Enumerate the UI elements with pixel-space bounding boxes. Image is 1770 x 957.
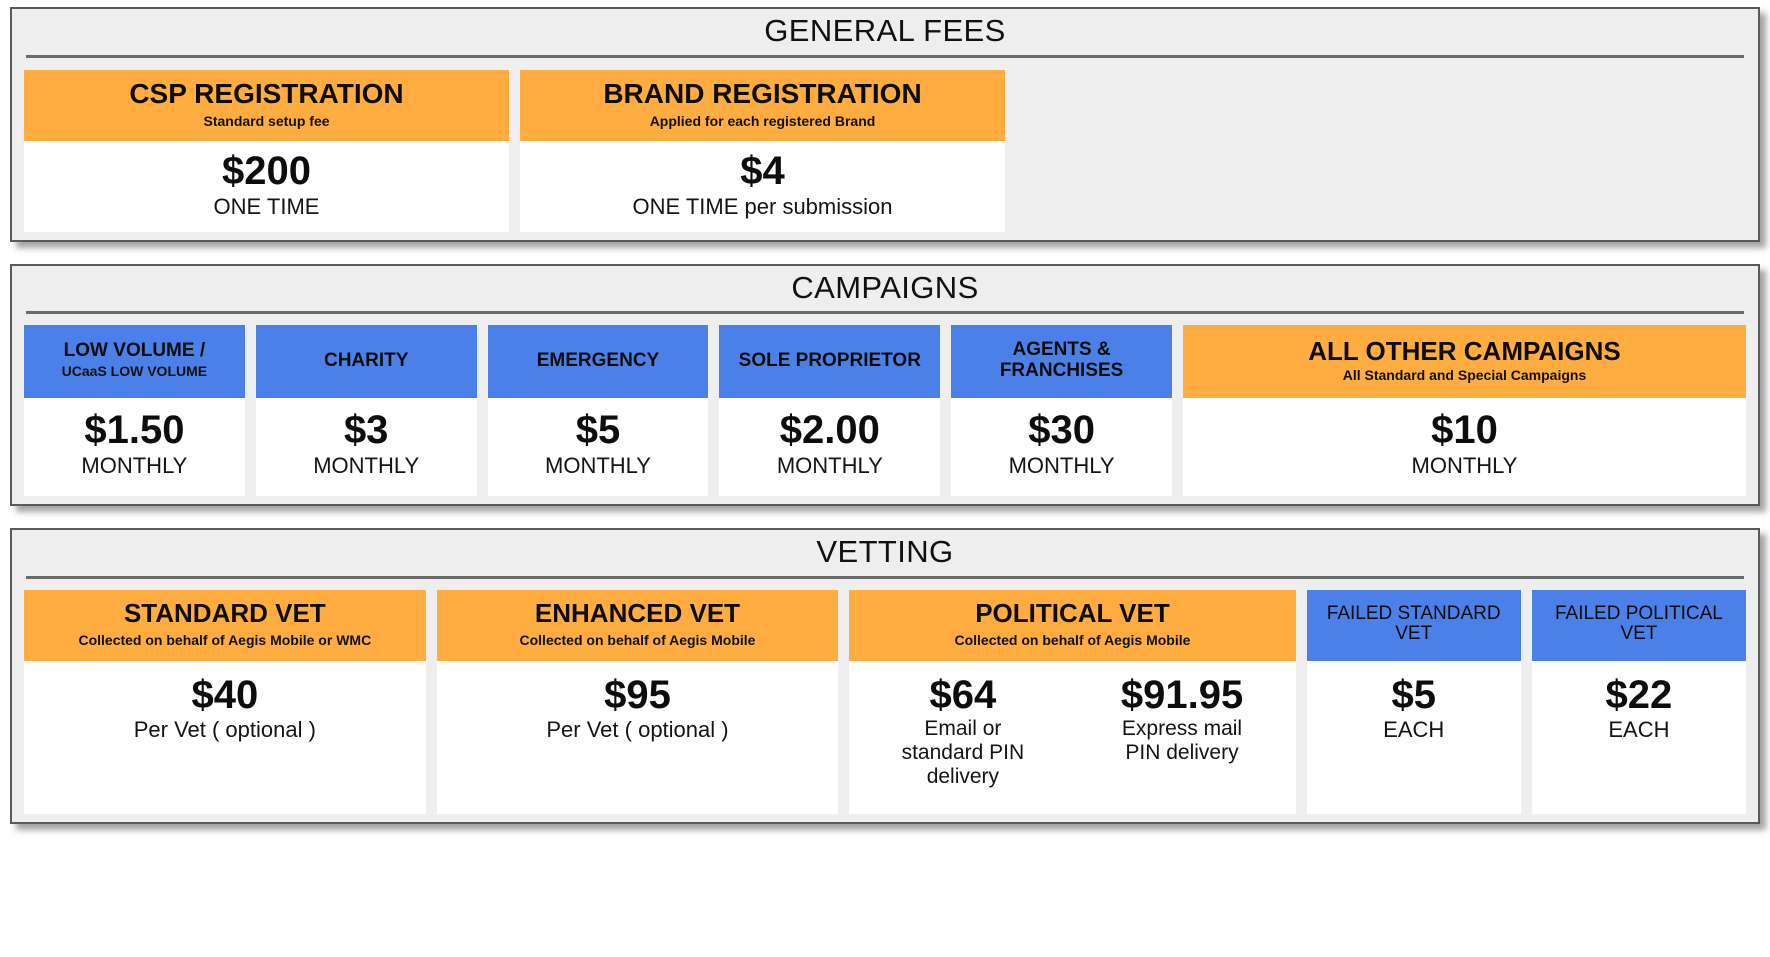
card-header-all-other-campaigns: ALL OTHER CAMPAIGNS All Standard and Spe… bbox=[1183, 325, 1746, 398]
card-subtitle-standard-vet: Collected on behalf of Aegis Mobile or W… bbox=[78, 633, 371, 648]
card-low-volume[interactable]: LOW VOLUME / UCaaS LOW VOLUME $1.50 MONT… bbox=[24, 325, 245, 496]
card-header-failed-standard-vet: FAILED STANDARD VET bbox=[1307, 590, 1521, 661]
card-header-political-vet: POLITICAL VET Collected on behalf of Aeg… bbox=[849, 590, 1295, 661]
price-emergency: $5 bbox=[576, 410, 621, 452]
card-title-political-vet: POLITICAL VET bbox=[975, 600, 1170, 628]
price-note-political-vet-express: Express mail PIN delivery bbox=[1112, 717, 1252, 765]
section-vetting: VETTING STANDARD VET Collected on behalf… bbox=[10, 528, 1760, 824]
political-vet-option-email: $64 Email or standard PIN delivery bbox=[853, 675, 1072, 789]
price-failed-political-vet: $22 bbox=[1606, 675, 1673, 717]
card-title-enhanced-vet: ENHANCED VET bbox=[535, 600, 740, 628]
card-header-csp-registration: CSP REGISTRATION Standard setup fee bbox=[24, 70, 509, 141]
price-sole-proprietor: $2.00 bbox=[780, 410, 880, 452]
card-title-failed-standard-vet: FAILED STANDARD VET bbox=[1315, 604, 1513, 644]
card-title-charity: CHARITY bbox=[324, 351, 408, 371]
card-title-sole-proprietor: SOLE PROPRIETOR bbox=[739, 351, 921, 371]
card-row-campaigns: LOW VOLUME / UCaaS LOW VOLUME $1.50 MONT… bbox=[12, 314, 1758, 496]
card-agents-franchises[interactable]: AGENTS & FRANCHISES $30 MONTHLY bbox=[951, 325, 1172, 496]
card-failed-standard-vet[interactable]: FAILED STANDARD VET $5 EACH bbox=[1307, 590, 1521, 814]
price-note-failed-standard-vet: EACH bbox=[1383, 717, 1444, 742]
card-political-vet[interactable]: POLITICAL VET Collected on behalf of Aeg… bbox=[849, 590, 1295, 814]
card-body-all-other-campaigns: $10 MONTHLY bbox=[1183, 398, 1746, 496]
card-row-general-fees: CSP REGISTRATION Standard setup fee $200… bbox=[12, 58, 1758, 232]
card-title-failed-political-vet: FAILED POLITICAL VET bbox=[1540, 604, 1738, 644]
price-note-sole-proprietor: MONTHLY bbox=[777, 453, 883, 478]
card-body-low-volume: $1.50 MONTHLY bbox=[24, 398, 245, 496]
price-note-charity: MONTHLY bbox=[313, 453, 419, 478]
card-body-failed-standard-vet: $5 EACH bbox=[1307, 661, 1521, 814]
card-title-agents-franchises: AGENTS & FRANCHISES bbox=[959, 340, 1164, 380]
section-campaigns: CAMPAIGNS LOW VOLUME / UCaaS LOW VOLUME … bbox=[10, 264, 1760, 507]
price-failed-standard-vet: $5 bbox=[1391, 675, 1436, 717]
section-title-campaigns: CAMPAIGNS bbox=[12, 266, 1758, 312]
price-note-standard-vet: Per Vet ( optional ) bbox=[134, 717, 316, 742]
card-body-sole-proprietor: $2.00 MONTHLY bbox=[719, 398, 940, 496]
section-title-vetting: VETTING bbox=[12, 530, 1758, 576]
card-failed-political-vet[interactable]: FAILED POLITICAL VET $22 EACH bbox=[1532, 590, 1746, 814]
card-body-agents-franchises: $30 MONTHLY bbox=[951, 398, 1172, 496]
card-csp-registration[interactable]: CSP REGISTRATION Standard setup fee $200… bbox=[24, 70, 509, 232]
price-standard-vet: $40 bbox=[191, 675, 258, 717]
card-subtitle-csp-registration: Standard setup fee bbox=[203, 114, 329, 129]
card-title-brand-registration: BRAND REGISTRATION bbox=[603, 79, 921, 109]
price-note-all-other-campaigns: MONTHLY bbox=[1412, 453, 1518, 478]
price-political-vet-email: $64 bbox=[930, 675, 997, 717]
card-body-political-vet: $64 Email or standard PIN delivery $91.9… bbox=[849, 661, 1295, 814]
card-body-failed-political-vet: $22 EACH bbox=[1532, 661, 1746, 814]
card-subtitle-low-volume: UCaaS LOW VOLUME bbox=[62, 364, 207, 379]
card-charity[interactable]: CHARITY $3 MONTHLY bbox=[256, 325, 477, 496]
card-title-low-volume: LOW VOLUME / bbox=[64, 341, 205, 361]
political-vet-option-express: $91.95 Express mail PIN delivery bbox=[1072, 675, 1291, 765]
price-note-emergency: MONTHLY bbox=[545, 453, 651, 478]
card-brand-registration[interactable]: BRAND REGISTRATION Applied for each regi… bbox=[520, 70, 1005, 232]
card-body-charity: $3 MONTHLY bbox=[256, 398, 477, 496]
card-header-sole-proprietor: SOLE PROPRIETOR bbox=[719, 325, 940, 398]
price-note-low-volume: MONTHLY bbox=[81, 453, 187, 478]
price-low-volume: $1.50 bbox=[84, 410, 184, 452]
price-note-failed-political-vet: EACH bbox=[1608, 717, 1669, 742]
card-header-agents-franchises: AGENTS & FRANCHISES bbox=[951, 325, 1172, 398]
card-subtitle-enhanced-vet: Collected on behalf of Aegis Mobile bbox=[520, 633, 756, 648]
price-all-other-campaigns: $10 bbox=[1431, 410, 1498, 452]
card-body-emergency: $5 MONTHLY bbox=[488, 398, 709, 496]
card-body-enhanced-vet: $95 Per Vet ( optional ) bbox=[437, 661, 839, 814]
card-subtitle-all-other-campaigns: All Standard and Special Campaigns bbox=[1343, 368, 1587, 383]
price-note-csp-registration: ONE TIME bbox=[214, 194, 320, 219]
card-body-csp-registration: $200 ONE TIME bbox=[24, 141, 509, 232]
price-note-political-vet-email: Email or standard PIN delivery bbox=[893, 717, 1033, 789]
card-subtitle-political-vet: Collected on behalf of Aegis Mobile bbox=[954, 633, 1190, 648]
price-enhanced-vet: $95 bbox=[604, 675, 671, 717]
card-emergency[interactable]: EMERGENCY $5 MONTHLY bbox=[488, 325, 709, 496]
price-note-brand-registration: ONE TIME per submission bbox=[632, 194, 892, 219]
card-title-emergency: EMERGENCY bbox=[537, 351, 659, 371]
price-csp-registration: $200 bbox=[222, 151, 311, 193]
price-note-agents-franchises: MONTHLY bbox=[1009, 453, 1115, 478]
card-title-csp-registration: CSP REGISTRATION bbox=[129, 79, 403, 109]
price-agents-franchises: $30 bbox=[1028, 410, 1095, 452]
card-header-failed-political-vet: FAILED POLITICAL VET bbox=[1532, 590, 1746, 661]
card-all-other-campaigns[interactable]: ALL OTHER CAMPAIGNS All Standard and Spe… bbox=[1183, 325, 1746, 496]
card-header-low-volume: LOW VOLUME / UCaaS LOW VOLUME bbox=[24, 325, 245, 398]
card-standard-vet[interactable]: STANDARD VET Collected on behalf of Aegi… bbox=[24, 590, 426, 814]
card-header-charity: CHARITY bbox=[256, 325, 477, 398]
card-title-standard-vet: STANDARD VET bbox=[124, 600, 326, 628]
card-sole-proprietor[interactable]: SOLE PROPRIETOR $2.00 MONTHLY bbox=[719, 325, 940, 496]
card-body-brand-registration: $4 ONE TIME per submission bbox=[520, 141, 1005, 232]
card-header-standard-vet: STANDARD VET Collected on behalf of Aegi… bbox=[24, 590, 426, 661]
price-political-vet-express: $91.95 bbox=[1121, 675, 1243, 717]
price-brand-registration: $4 bbox=[740, 151, 785, 193]
section-general-fees: GENERAL FEES CSP REGISTRATION Standard s… bbox=[10, 7, 1760, 242]
card-body-standard-vet: $40 Per Vet ( optional ) bbox=[24, 661, 426, 814]
price-charity: $3 bbox=[344, 410, 389, 452]
card-header-brand-registration: BRAND REGISTRATION Applied for each regi… bbox=[520, 70, 1005, 141]
card-row-vetting: STANDARD VET Collected on behalf of Aegi… bbox=[12, 579, 1758, 814]
card-header-enhanced-vet: ENHANCED VET Collected on behalf of Aegi… bbox=[437, 590, 839, 661]
card-enhanced-vet[interactable]: ENHANCED VET Collected on behalf of Aegi… bbox=[437, 590, 839, 814]
section-title-general-fees: GENERAL FEES bbox=[12, 9, 1758, 55]
card-subtitle-brand-registration: Applied for each registered Brand bbox=[650, 114, 876, 129]
card-header-emergency: EMERGENCY bbox=[488, 325, 709, 398]
pricing-sheet: GENERAL FEES CSP REGISTRATION Standard s… bbox=[0, 0, 1770, 957]
card-title-all-other-campaigns: ALL OTHER CAMPAIGNS bbox=[1308, 338, 1620, 366]
price-note-enhanced-vet: Per Vet ( optional ) bbox=[546, 717, 728, 742]
